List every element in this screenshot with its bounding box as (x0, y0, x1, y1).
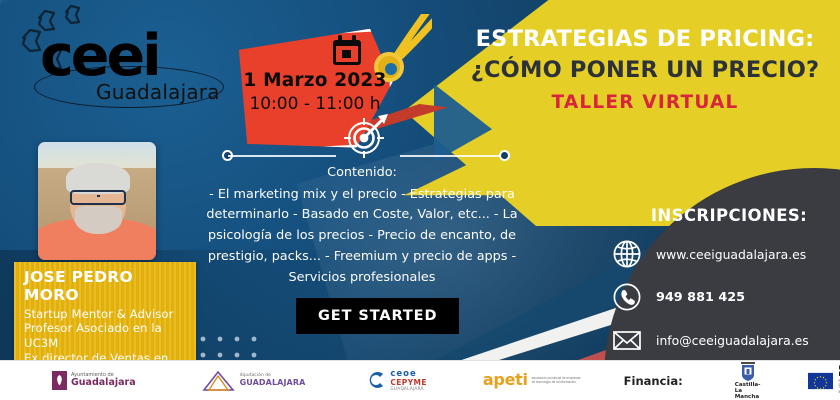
logo-ceoe-cepyme: ceoe CEPYME GUADALAJARA (367, 370, 427, 391)
diputacion-triangle-icon (202, 370, 236, 392)
website-text: www.ceeiguadalajara.es (656, 247, 806, 262)
diputacion-line-2: GUADALAJARA (240, 379, 306, 387)
divider-line-left (228, 155, 336, 157)
divider-dot-right (499, 150, 510, 161)
speaker-name: JOSE PEDRO MORO (24, 269, 186, 305)
financia-label: Financia: (624, 374, 683, 388)
footer-sponsor-bar: Ayuntamiento de Guadalajara diputación d… (0, 360, 840, 400)
photo-hair (66, 163, 130, 194)
logo-union-europea: Unión Europea Fondo Europeo de Desarroll… (808, 366, 840, 395)
email-text: info@ceeiguadalajara.es (656, 333, 809, 348)
content-body: - El marketing mix y el precio - Estrate… (202, 185, 522, 289)
envelope-icon (612, 325, 642, 355)
divider-line-right (400, 155, 504, 157)
photo-glasses (70, 190, 127, 204)
logo-wordmark: ceei (40, 28, 159, 85)
speaker-role-2: Profesor Asociado en la UC3M (24, 321, 186, 351)
title-line-2: ¿CÓMO PONER UN PRECIO? (462, 57, 828, 84)
speaker-role-1: Startup Mentor & Advisor (24, 307, 186, 322)
ceei-logo: ceei Guadalajara (34, 28, 224, 110)
speaker-photo (38, 142, 156, 260)
apeti-tagline: asociación provincial de empresas de tec… (532, 376, 584, 385)
eu-flag-icon (808, 368, 833, 394)
content-block: Contenido: - El marketing mix y el preci… (202, 163, 522, 288)
photo-beard (75, 206, 122, 234)
contact-row-email[interactable]: info@ceeiguadalajara.es (612, 325, 838, 355)
calendar-icon (330, 34, 364, 68)
logo-subtitle: Guadalajara (96, 80, 220, 104)
phone-text: 949 881 425 (656, 290, 745, 305)
logo-apeti: apeti asociación provincial de empresas … (483, 372, 584, 389)
logo-diputacion: diputación de GUADALAJARA (202, 370, 306, 392)
contact-row-website[interactable]: www.ceeiguadalajara.es (612, 239, 838, 269)
ceoe-c-icon (367, 370, 387, 390)
castilla-crest-icon (737, 360, 759, 382)
ayuntamiento-line-2: Guadalajara (71, 378, 136, 388)
event-title: ESTRATEGIAS DE PRICING: ¿CÓMO PONER UN P… (462, 26, 828, 113)
apeti-wordmark: apeti (483, 372, 528, 389)
globe-icon (612, 239, 642, 269)
target-dart-icon (340, 110, 392, 162)
inscriptions-block: INSCRIPCIONES: www.ceeiguadalajara.es 94… (612, 206, 838, 368)
ceoe-line-3: GUADALAJARA (390, 387, 427, 391)
logo-ayuntamiento: Ayuntamiento de Guadalajara (52, 371, 136, 390)
logo-castilla-la-mancha: Castilla-La Mancha (735, 360, 761, 400)
event-date: 1 Marzo 2023 (240, 70, 390, 91)
inscriptions-title: INSCRIPCIONES: (612, 206, 838, 225)
title-line-3: TALLER VIRTUAL (462, 92, 828, 113)
content-heading: Contenido: (202, 163, 522, 184)
title-line-1: ESTRATEGIAS DE PRICING: (462, 26, 828, 52)
promotional-banner: ceei Guadalajara JOSE PEDRO MORO Startup… (0, 0, 840, 400)
ayuntamiento-shield-icon (52, 371, 67, 390)
castilla-label: Castilla-La Mancha (735, 383, 761, 400)
phone-icon (612, 282, 642, 312)
get-started-button[interactable]: GET STARTED (296, 298, 459, 334)
contact-row-phone[interactable]: 949 881 425 (612, 282, 838, 312)
